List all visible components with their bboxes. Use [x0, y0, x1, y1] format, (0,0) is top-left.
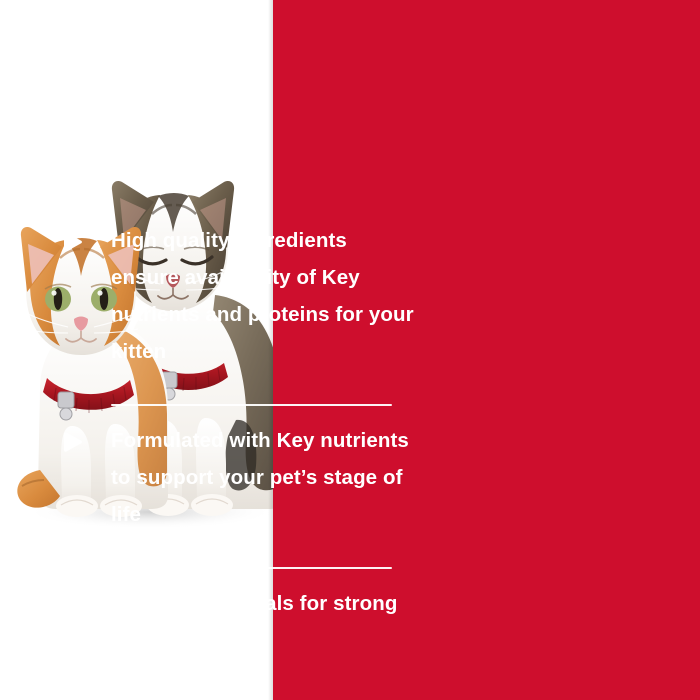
benefits-list: High quality ingredients ensure availabi…: [64, 222, 414, 659]
benefit-text: Balanced minerals for strong bones & tee…: [111, 585, 414, 659]
benefit-divider: [111, 567, 392, 569]
play-triangle-icon: [64, 431, 83, 453]
benefit-item: High quality ingredients ensure availabi…: [64, 222, 414, 370]
benefit-item: Formulated with Key nutrients to support…: [64, 422, 414, 533]
benefit-divider: [111, 404, 392, 406]
page-title: KEY BENEFITS: [0, 52, 427, 180]
play-triangle-icon: [64, 231, 83, 253]
benefit-text: Formulated with Key nutrients to support…: [111, 422, 414, 533]
benefit-text: High quality ingredients ensure availabi…: [111, 222, 414, 370]
benefit-item: Balanced minerals for strong bones & tee…: [64, 585, 414, 659]
page-title-line-2: BENEFITS: [0, 116, 427, 180]
spacer: [64, 533, 414, 551]
page-title-line-1: KEY: [0, 52, 427, 116]
play-triangle-icon: [64, 594, 83, 616]
key-benefits-banner: KEY BENEFITS High quality ingredients en…: [0, 0, 700, 700]
spacer: [64, 370, 414, 388]
